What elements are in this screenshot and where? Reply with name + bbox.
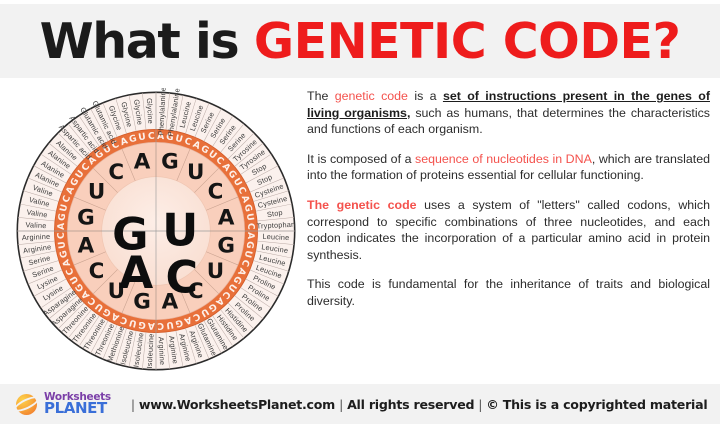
ring3-letter: U (138, 132, 147, 143)
infographic-page: What is GENETIC CODE? AGUCAG (0, 0, 720, 424)
worksheets-planet-logo[interactable]: Worksheets PLANET (14, 391, 111, 417)
core-letter-a: A (119, 248, 154, 299)
paragraph-3: The genetic code uses a system of "lette… (307, 197, 710, 263)
footer-rights: All rights reserved (347, 397, 474, 412)
amino-acid-label: Isoleucine (145, 333, 156, 368)
amino-acid-label: Tryptophan (256, 220, 295, 231)
text-run-0: The (307, 89, 335, 103)
ring3-letter: A (57, 222, 67, 230)
ring3-letter: C (148, 132, 155, 142)
amino-acid-label: Valine (25, 220, 46, 230)
title-plain: What is (40, 13, 254, 70)
text-run-1: genetic code (335, 89, 408, 103)
ring3-letter: A (245, 232, 255, 240)
ring2-letter: G (77, 205, 95, 230)
planet-icon (14, 391, 40, 417)
footer-site[interactable]: www.WorksheetsPlanet.com (139, 397, 335, 412)
ring3-letter: A (147, 320, 155, 330)
logo-wordmark: Worksheets PLANET (44, 392, 111, 417)
ring2-letter: U (88, 180, 105, 205)
amino-acid-label: Arginine (157, 337, 167, 366)
ring3-letter: C (157, 320, 164, 330)
footer-sep-2: | (339, 397, 343, 412)
ring2-letter: C (89, 259, 105, 284)
ring3-letter: G (57, 213, 68, 222)
ring2-letter: A (218, 205, 235, 230)
ring3-letter: U (165, 319, 174, 330)
ring2-letter: C (108, 160, 124, 185)
text-run-1: sequence of nucleotides in DNA (415, 152, 592, 166)
core-letter-c: C (165, 252, 198, 303)
ring2-letter: C (208, 180, 224, 205)
ring2-letter: G (161, 149, 179, 174)
header-band: What is GENETIC CODE? (0, 4, 720, 78)
codon-wheel-svg: AGUCAGUCAGUCAGUCAGUCAGUCAGUCAGUCAGUCAGUC… (13, 88, 299, 374)
ring2-letter: A (134, 149, 151, 174)
title-accent: GENETIC CODE? (254, 13, 681, 70)
footer-copyright: © This is a copyrighted material (486, 397, 707, 412)
ring2-letter: U (207, 259, 224, 284)
amino-acid-label: Arginine (22, 232, 51, 242)
ring2-letter: G (217, 233, 235, 258)
ring3-letter: C (57, 232, 67, 239)
ring3-letter: G (244, 240, 255, 249)
ring2-letter: U (187, 160, 204, 185)
paragraph-1: The genetic code is a set of instruction… (307, 88, 710, 138)
ring3-letter: C (245, 223, 255, 230)
text-run-0: This code is fundamental for the inherit… (307, 277, 710, 308)
footer-sep-3: | (478, 397, 482, 412)
amino-acid-label: Glycine (145, 98, 155, 124)
ring2-letter: A (78, 233, 95, 258)
amino-acid-label: Leucine (262, 232, 289, 242)
logo-line-2: PLANET (44, 401, 111, 416)
article-body: The genetic code is a set of instruction… (307, 88, 710, 310)
footer-credits: |www.WorksheetsPlanet.com|All rights res… (127, 397, 708, 412)
footer-band: Worksheets PLANET |www.WorksheetsPlanet.… (0, 384, 720, 424)
footer-sep-1: | (131, 397, 135, 412)
page-title: What is GENETIC CODE? (40, 17, 681, 66)
paragraph-2: It is composed of a sequence of nucleoti… (307, 151, 710, 184)
text-run-2: is a (408, 89, 443, 103)
ring3-letter: U (244, 213, 255, 222)
text-run-0: It is composed of a (307, 152, 415, 166)
text-run-0: The genetic code (307, 198, 417, 212)
core-letter-u: U (162, 205, 198, 256)
codon-wheel: AGUCAGUCAGUCAGUCAGUCAGUCAGUCAGUCAGUCAGUC… (13, 88, 299, 374)
ring3-letter: U (57, 240, 68, 249)
paragraph-4: This code is fundamental for the inherit… (307, 276, 710, 309)
ring3-letter: G (138, 319, 147, 330)
